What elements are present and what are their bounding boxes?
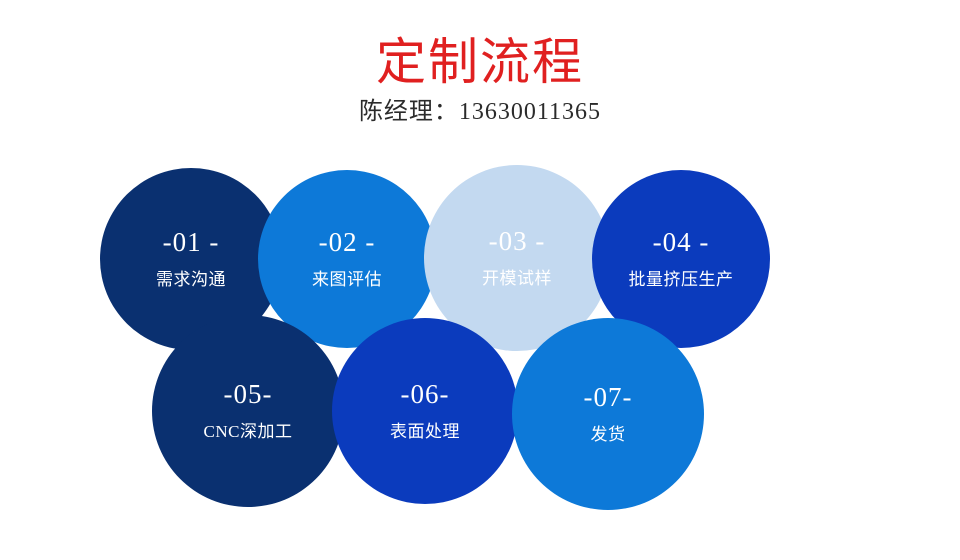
step-number-06: -06- [401,379,450,409]
step-number-04: -04 - [653,227,710,257]
step-label-04: 批量挤压生产 [629,269,734,291]
page-title: 定制流程 [0,34,960,90]
process-step-circle-06[interactable]: -06- 表面处理 [332,318,518,504]
step-label-03: 开模试样 [482,268,552,290]
step-label-01: 需求沟通 [156,269,226,291]
step-label-06: 表面处理 [390,421,460,443]
step-number-03: -03 - [489,226,546,256]
contact-subtitle: 陈经理：13630011365 [0,97,960,127]
step-number-05: -05- [224,379,273,409]
step-label-02: 来图评估 [312,269,382,291]
process-step-circle-07[interactable]: -07- 发货 [512,318,704,510]
slide-header: 定制流程 陈经理：13630011365 [0,34,960,127]
step-number-01: -01 - [163,227,220,257]
process-step-circle-05[interactable]: -05- CNC深加工 [152,315,344,507]
process-flow-slide: 定制流程 陈经理：13630011365 -01 - 需求沟通 -02 - 来图… [0,0,960,560]
step-label-05: CNC深加工 [204,421,293,443]
step-label-07: 发货 [591,424,626,446]
step-number-07: -07- [584,382,633,412]
step-number-02: -02 - [319,227,376,257]
